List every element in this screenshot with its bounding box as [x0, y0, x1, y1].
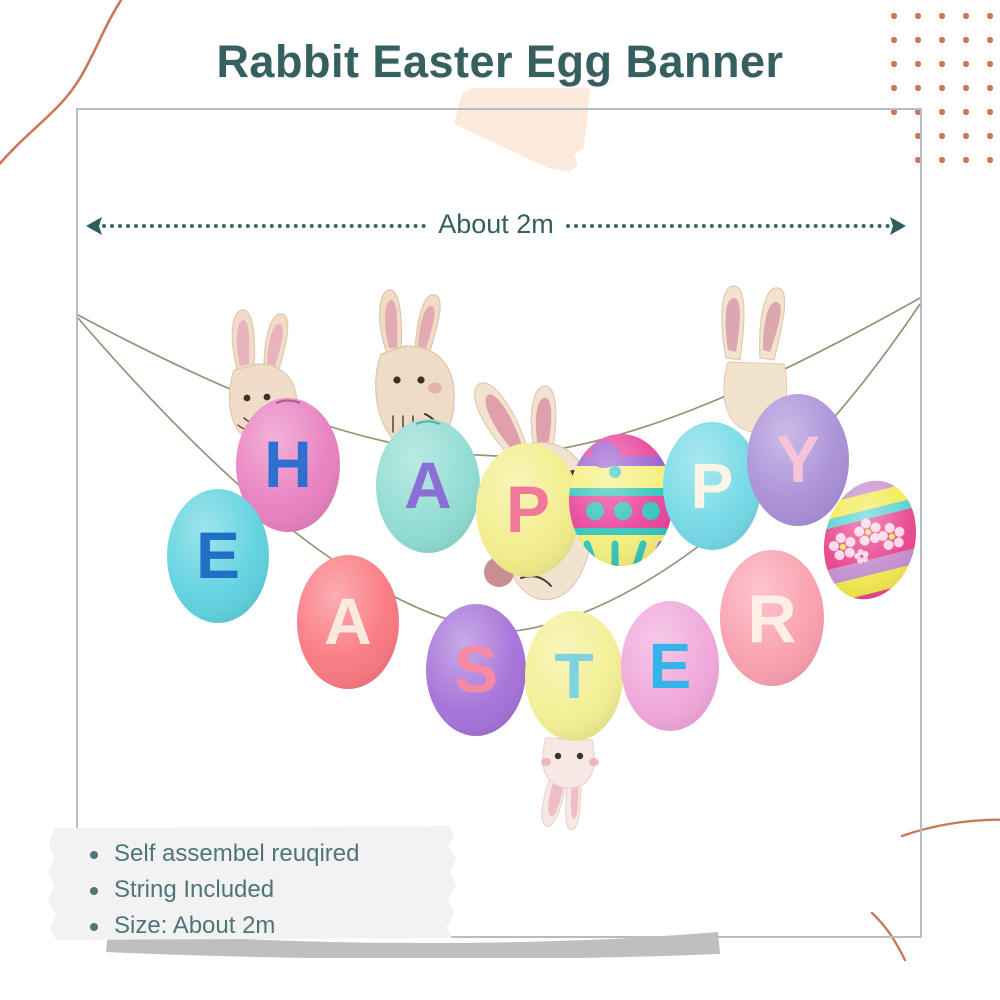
egg-letter: A: [404, 448, 452, 522]
egg-bottom-1: A: [297, 555, 399, 689]
banner-illustration: H A P: [76, 260, 922, 830]
bunny-eye-right-icon: [417, 376, 424, 383]
egg-letter: T: [554, 640, 593, 712]
egg-bottom-2: S: [426, 604, 526, 736]
egg-letter: A: [324, 584, 372, 658]
bunny-eye-right-icon: [577, 753, 583, 759]
egg-bottom-5: R: [720, 550, 824, 686]
egg-letter: E: [196, 518, 240, 592]
egg-top-4: Y: [747, 394, 849, 526]
egg-bottom-0: E: [167, 489, 269, 623]
bunny-ear-left-icon: [722, 286, 744, 360]
measure-label: About 2m: [426, 209, 566, 240]
poster-canvas: Rabbit Easter Egg Banner About 2m: [0, 0, 1000, 1000]
bunny-ear-left-icon: [232, 310, 254, 372]
feature-bullet-list: Self assembel reuqired String Included S…: [82, 836, 462, 944]
egg-letter: H: [264, 427, 312, 501]
egg-letter: E: [649, 630, 692, 702]
bunny-eye-left-icon: [244, 395, 251, 402]
bunny-bottom: [541, 738, 599, 830]
bunny-ear-left-icon: [380, 290, 402, 354]
bullet-item: String Included: [82, 872, 462, 908]
bunny-ear-right-icon: [415, 295, 440, 354]
banner-product-photo: H A P: [76, 260, 922, 830]
bunny-ear-right-icon: [264, 314, 288, 372]
egg-letter: Y: [776, 422, 820, 496]
egg-bottom-4: E: [621, 601, 719, 731]
measure-line-left: [102, 224, 426, 228]
egg-letter: S: [454, 632, 498, 706]
bullet-item: Self assembel reuqired: [82, 836, 462, 872]
egg-letter: P: [691, 450, 734, 522]
egg-bottom-3: T: [525, 611, 623, 741]
egg-top-1: A: [376, 419, 480, 553]
arrow-right-icon: [890, 216, 906, 236]
bunny-eye-left-icon: [555, 753, 561, 759]
bunny-eye-right-icon: [264, 394, 271, 401]
bunny-cheek-icon: [428, 383, 442, 394]
egg-letter: P: [506, 472, 550, 546]
measurement-indicator: About 2m: [86, 202, 906, 250]
arrow-left-icon: [86, 216, 102, 236]
egg-letter: R: [747, 581, 796, 657]
page-title: Rabbit Easter Egg Banner: [0, 36, 1000, 88]
bunny-ear-right-icon: [760, 288, 785, 360]
bunny-cheek-icon: [589, 758, 599, 766]
egg-top-3: P: [663, 422, 761, 550]
feature-note-card: Self assembel reuqired String Included S…: [48, 824, 462, 942]
bunny-cheek-icon: [541, 758, 551, 766]
measure-line-right: [566, 224, 890, 228]
egg-top-2: P: [476, 443, 580, 577]
bunny-eye-left-icon: [393, 376, 400, 383]
bullet-item: Size: About 2m: [82, 908, 462, 944]
